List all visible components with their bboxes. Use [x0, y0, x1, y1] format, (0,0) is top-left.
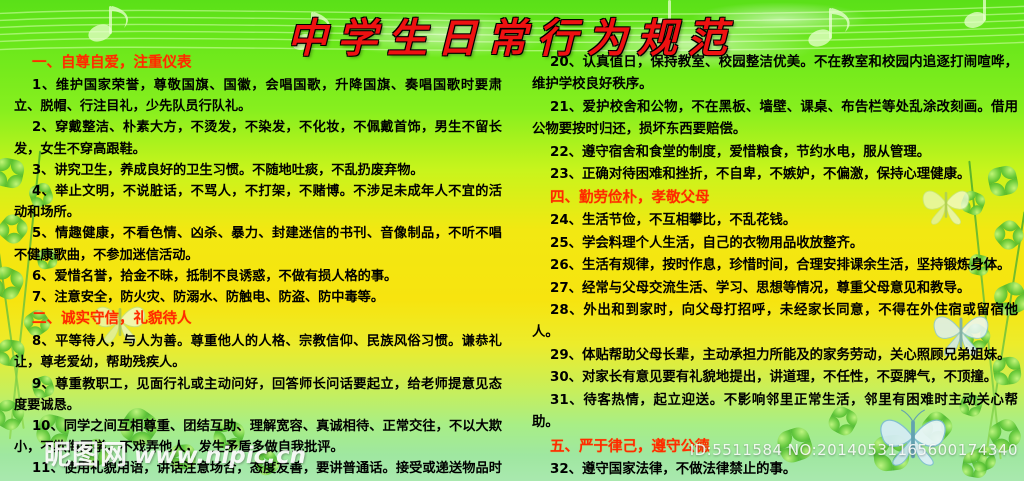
rule-item: 2、穿戴整洁、朴素大方，不烫发，不染发，不化妆，不佩戴首饰，男生不留长发，女生不… — [14, 117, 502, 159]
rules-column-left: 一、自尊自爱，注重仪表1、维护国家荣誉，尊敬国旗、国徽，会唱国歌，升降国旗、奏唱… — [0, 52, 512, 481]
rule-item: 24、生活节俭，不互相攀比，不乱花钱。 — [532, 210, 1018, 232]
rule-item: 7、注意安全，防火灾、防溺水、防触电、防盗、防中毒等。 — [14, 287, 502, 308]
rule-item: 3、讲究卫生，养成良好的卫生习惯。不随地吐痰，不乱扔废弃物。 — [14, 160, 502, 181]
rule-item: 11、使用礼貌用语，讲话注意场合，态度友善，要讲普通话。接受或递送物品时要起立并… — [14, 458, 502, 481]
rule-item: 21、爱护校舍和公物，不在黑板、墙壁、课桌、布告栏等处乱涂改刻画。借用公物要按时… — [532, 97, 1018, 142]
section-heading: 四、勤劳俭朴，孝敬父母 — [532, 187, 1018, 209]
rule-item: 32、遵守国家法律，不做法律禁止的事。 — [532, 459, 1018, 481]
rule-item: 4、举止文明，不说脏话，不骂人，不打架，不赌博。不涉足未成年人不宜的活动和场所。 — [14, 181, 502, 223]
rule-item: 10、同学之间互相尊重、团结互助、理解宽容、真诚相待、正常交往，不以大欺小，不欺… — [14, 416, 502, 458]
rule-item: 31、待客热情，起立迎送。不影响邻里正常生活，邻里有困难时主动关心帮助。 — [532, 390, 1018, 435]
rule-item: 22、遵守宿舍和食堂的制度，爱惜粮食，节约水电，服从管理。 — [532, 142, 1018, 164]
rule-item: 29、体贴帮助父母长辈，主动承担力所能及的家务劳动，关心照顾兄弟姐妹。 — [532, 345, 1018, 367]
rule-item: 23、正确对待困难和挫折，不自卑，不嫉妒，不偏激，保持心理健康。 — [532, 164, 1018, 186]
rule-item: 28、外出和到家时，向父母打招呼，未经家长同意，不得在外住宿或留宿他人。 — [532, 300, 1018, 345]
poster-canvas: 中学生日常行为规范 — [0, 0, 1024, 481]
section-heading: 五、严于律己，遵守公德 — [532, 436, 1018, 458]
rule-item: 1、维护国家荣誉，尊敬国旗、国徽，会唱国歌，升降国旗、奏唱国歌时要肃立、脱帽、行… — [14, 75, 502, 117]
rule-item: 25、学会料理个人生活，自己的衣物用品收放整齐。 — [532, 233, 1018, 255]
rule-item: 8、平等待人，与人为善。尊重他人的人格、宗教信仰、民族风俗习惯。谦恭礼让，尊老爱… — [14, 331, 502, 373]
rule-item: 27、经常与父母交流生活、学习、思想等情况，尊重父母意见和教导。 — [532, 278, 1018, 300]
rule-item: 6、爱惜名誉，拾金不昧，抵制不良诱惑，不做有损人格的事。 — [14, 266, 502, 287]
rules-columns: 一、自尊自爱，注重仪表1、维护国家荣誉，尊敬国旗、国徽，会唱国歌，升降国旗、奏唱… — [0, 52, 1024, 481]
rule-item: 9、尊重教职工，见面行礼或主动问好，回答师长问话要起立，给老师提意见态度要诚恳。 — [14, 374, 502, 416]
rule-item: 30、对家长有意见要有礼貌地提出，讲道理，不任性，不耍脾气，不顶撞。 — [532, 367, 1018, 389]
rule-item: 26、生活有规律，按时作息，珍惜时间，合理安排课余生活，坚持锻炼身体。 — [532, 255, 1018, 277]
rules-column-right: 20、认真值日，保持教室、校园整洁优美。不在教室和校园内追逐打闹喧哗，维护学校良… — [512, 52, 1024, 481]
section-heading: 二、诚实守信，礼貌待人 — [14, 309, 502, 330]
rule-item: 5、情趣健康，不看色情、凶杀、暴力、封建迷信的书刊、音像制品，不听不唱不健康歌曲… — [14, 223, 502, 265]
poster-title: 中学生日常行为规范 — [0, 6, 1024, 64]
